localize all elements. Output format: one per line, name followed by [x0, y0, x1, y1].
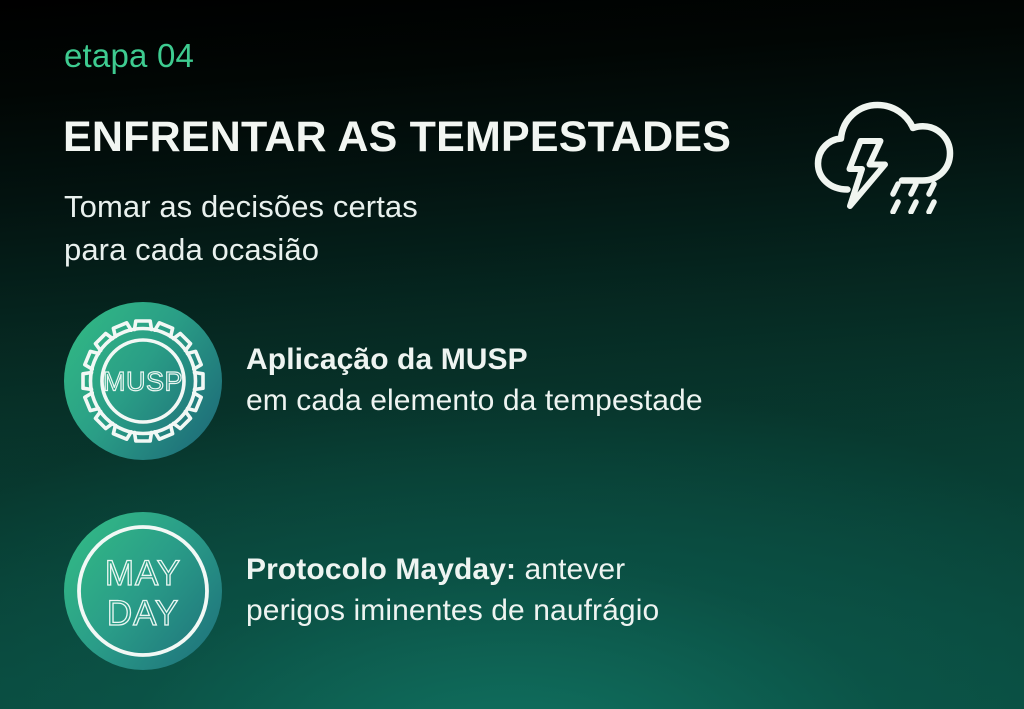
step-eyebrow-label: etapa 04 — [64, 38, 194, 74]
list-item-description: em cada elemento da tempestade — [246, 381, 703, 422]
slide-headline: ENFRENTAR AS TEMPESTADES — [63, 114, 731, 160]
list-item-title: Aplicação da MUSP — [246, 340, 703, 381]
list-item-text: Aplicação da MUSP em cada elemento da te… — [246, 340, 703, 422]
slide-subheading: Tomar as decisões certas para cada ocasi… — [64, 186, 418, 272]
list-item: MAY DAY Protocolo Mayday: antever perigo… — [64, 512, 659, 670]
list-item: MUSP Aplicação da MUSP em cada elemento … — [64, 302, 703, 460]
subheading-line-1: Tomar as decisões certas — [64, 186, 418, 229]
list-item-text: Protocolo Mayday: antever perigos iminen… — [246, 550, 659, 632]
badge-label-day: DAY — [107, 594, 179, 633]
list-item-title-emphasis: Protocolo Mayday: — [246, 553, 516, 586]
list-item-description: perigos iminentes de naufrágio — [246, 591, 659, 632]
list-item-title: Protocolo Mayday: antever — [246, 550, 659, 591]
badge-label-musp: MUSP — [103, 367, 183, 397]
gear-badge-icon: MUSP — [64, 302, 222, 460]
slide-canvas: etapa 04 ENFRENTAR AS TEMPESTADES Tomar … — [0, 0, 1024, 709]
subheading-line-2: para cada ocasião — [64, 229, 418, 272]
badge-label-may: MAY — [105, 554, 181, 593]
thunderstorm-cloud-icon — [806, 92, 958, 214]
list-item-title-rest: antever — [516, 553, 625, 586]
mayday-circle-badge-icon: MAY DAY — [64, 512, 222, 670]
